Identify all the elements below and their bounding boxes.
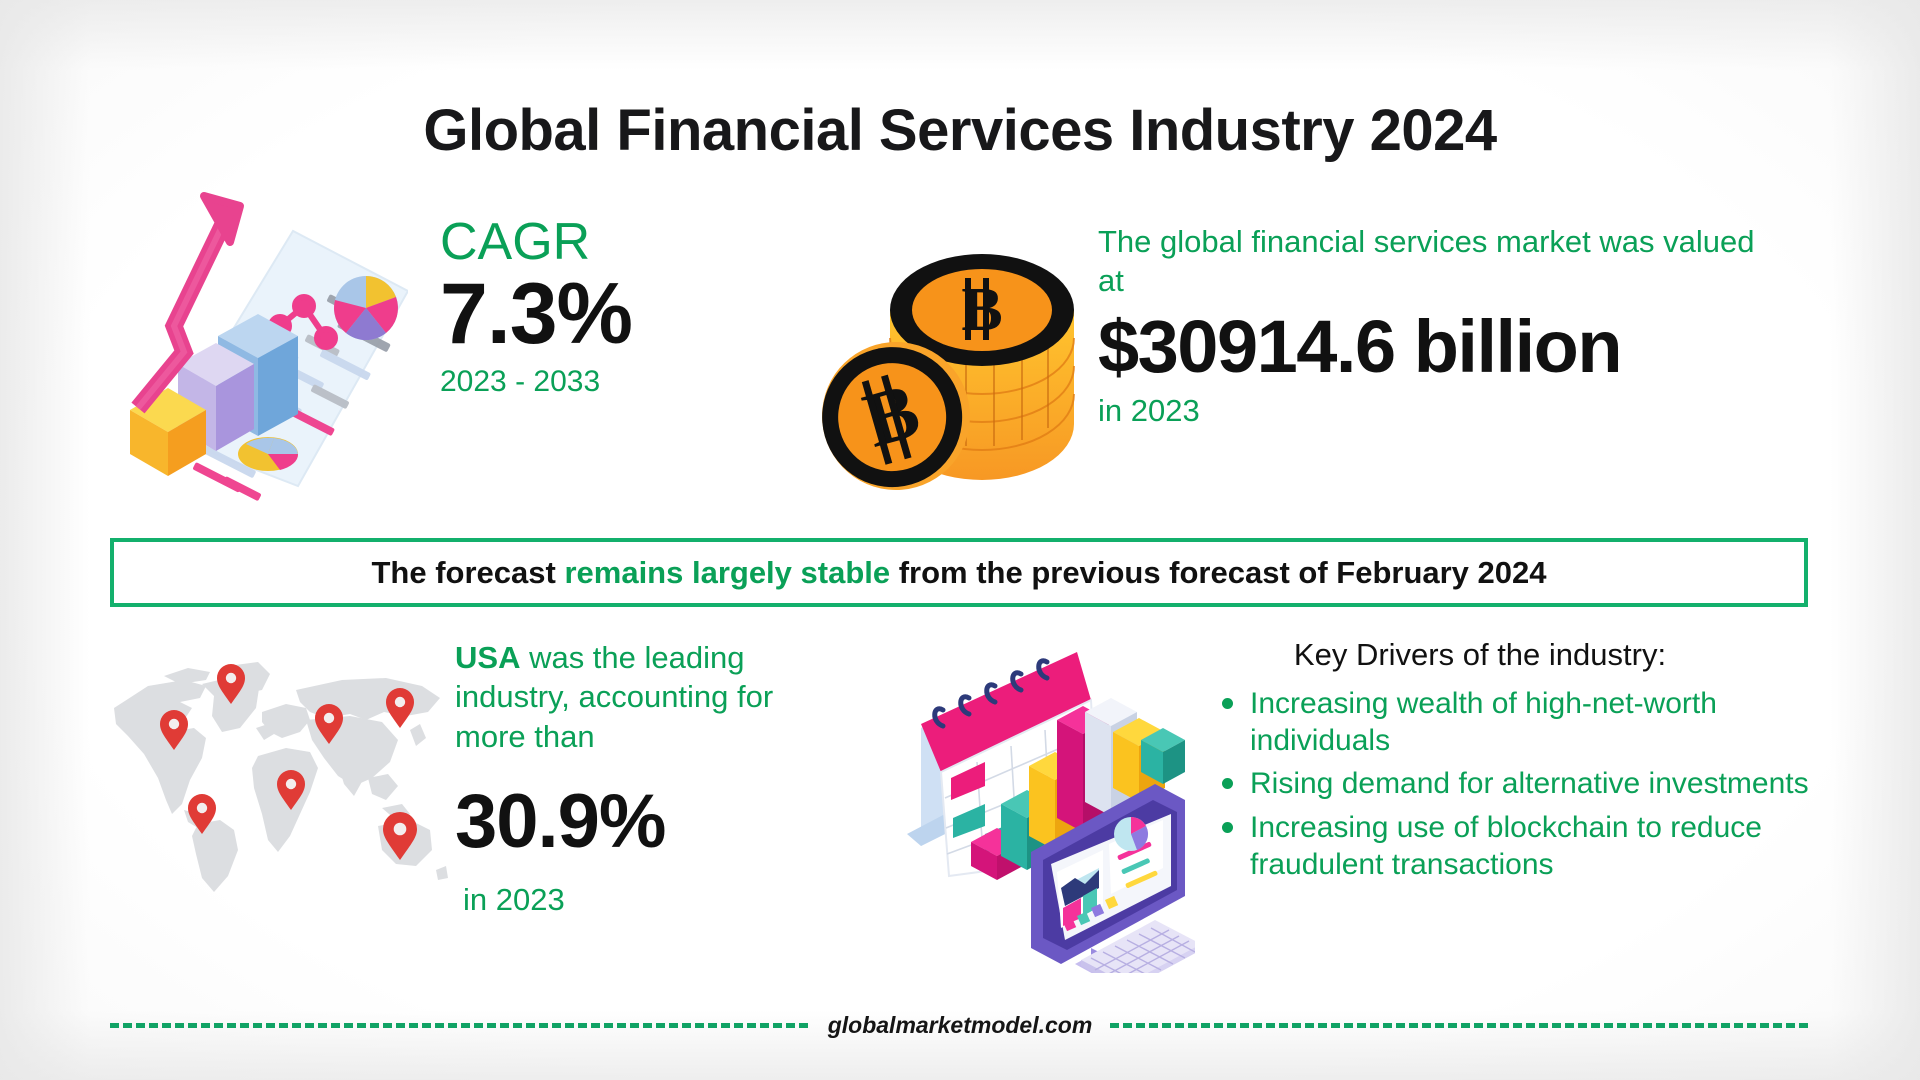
forecast-suffix: from the previous forecast of February 2… xyxy=(890,555,1546,590)
bullet-icon xyxy=(1222,698,1233,709)
forecast-highlight: remains largely stable xyxy=(564,555,890,590)
calendar-computer-dashboard-illustration xyxy=(885,638,1195,973)
footer-dash-right xyxy=(1110,1023,1810,1028)
world-map-illustration xyxy=(110,628,455,903)
key-driver-text: Rising demand for alternative investment… xyxy=(1250,767,1809,800)
footer-dash-left xyxy=(110,1023,810,1028)
market-value-year: in 2023 xyxy=(1098,393,1888,429)
bullet-icon xyxy=(1222,822,1233,833)
leading-region-name: USA xyxy=(455,640,520,675)
footer: globalmarketmodel.com xyxy=(110,1005,1810,1045)
forecast-banner-text: The forecast remains largely stable from… xyxy=(372,555,1547,591)
market-value-intro: The global financial services market was… xyxy=(1098,222,1758,300)
list-item: Increasing use of blockchain to reduce f… xyxy=(1220,809,1820,883)
leading-region-block: USA was the leading industry, accounting… xyxy=(455,638,825,918)
bullet-icon xyxy=(1222,778,1233,789)
forecast-banner: The forecast remains largely stable from… xyxy=(110,538,1808,607)
footer-source-label: globalmarketmodel.com xyxy=(828,1012,1093,1039)
key-driver-text: Increasing wealth of high-net-worth indi… xyxy=(1250,687,1717,757)
cagr-value: 7.3% xyxy=(440,270,770,359)
infographic-canvas: Global Financial Services Industry 2024 xyxy=(0,0,1920,1080)
leading-region-lead: USA was the leading industry, accounting… xyxy=(455,638,825,756)
market-value-amount: $30914.6 billion xyxy=(1098,306,1888,387)
list-item: Rising demand for alternative investment… xyxy=(1220,765,1820,802)
cagr-block: CAGR 7.3% 2023 - 2033 xyxy=(440,216,770,399)
growth-chart-illustration xyxy=(108,186,408,506)
page-title: Global Financial Services Industry 2024 xyxy=(0,97,1920,164)
cagr-label: CAGR xyxy=(440,216,770,268)
leading-region-share: 30.9% xyxy=(455,782,825,862)
leading-region-year: in 2023 xyxy=(463,882,825,918)
cagr-period: 2023 - 2033 xyxy=(440,365,770,399)
bitcoin-coins-illustration: B B xyxy=(818,188,1088,498)
market-value-block: The global financial services market was… xyxy=(1098,222,1888,429)
key-driver-text: Increasing use of blockchain to reduce f… xyxy=(1250,811,1762,881)
key-drivers-list: Increasing wealth of high-net-worth indi… xyxy=(1180,685,1820,883)
list-item: Increasing wealth of high-net-worth indi… xyxy=(1220,685,1820,759)
forecast-prefix: The forecast xyxy=(372,555,565,590)
key-drivers-title: Key Drivers of the industry: xyxy=(1180,637,1820,673)
key-drivers-block: Key Drivers of the industry: Increasing … xyxy=(1180,637,1820,889)
